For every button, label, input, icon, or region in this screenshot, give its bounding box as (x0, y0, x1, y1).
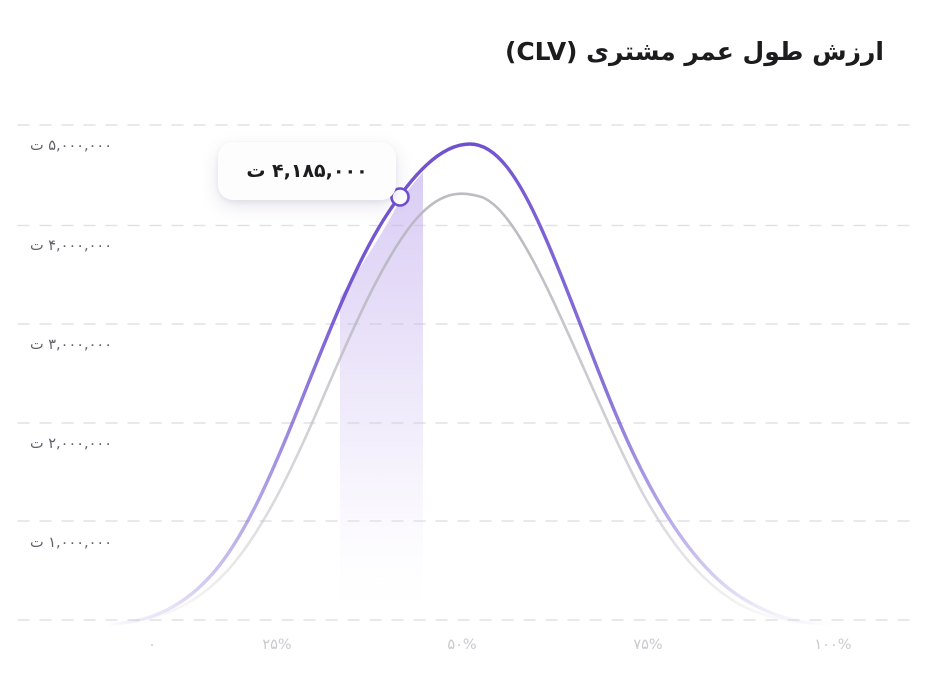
y-axis-label-5: ۵,۰۰۰,۰۰۰ ت (30, 138, 112, 154)
comparison-curve (122, 194, 848, 625)
gridlines (18, 125, 912, 620)
x-axis-label-75: ۷۵% (633, 637, 662, 653)
chart-svg (0, 0, 928, 696)
chart-tooltip: ۴,۱۸۵,۰۰۰ ت (218, 142, 396, 200)
x-axis-label-0: ۰ (148, 637, 156, 653)
y-axis-label-3: ۳,۰۰۰,۰۰۰ ت (30, 337, 112, 353)
chart-plot-area (0, 0, 928, 696)
y-axis-label-2: ۲,۰۰۰,۰۰۰ ت (30, 436, 112, 452)
tooltip-value: ۴,۱۸۵,۰۰۰ ت (246, 160, 367, 182)
y-axis-label-1: ۱,۰۰۰,۰۰۰ ت (30, 535, 112, 551)
x-axis-label-50: ۵۰% (447, 637, 476, 653)
clv-curve (112, 144, 836, 624)
clv-chart-widget: ارزش طول عمر مشتری (CLV) (0, 0, 928, 696)
y-axis-label-4: ۴,۰۰۰,۰۰۰ ت (30, 238, 112, 254)
x-axis-label-25: ۲۵% (262, 637, 291, 653)
x-axis-label-100: ۱۰۰% (814, 637, 851, 653)
highlight-band (340, 172, 423, 620)
